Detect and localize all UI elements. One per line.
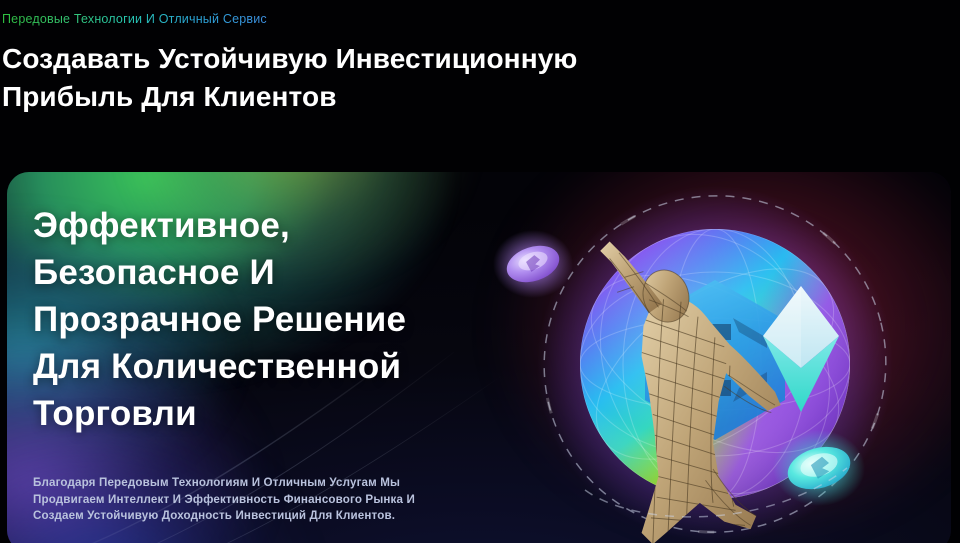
hero-page: Передовые Технологии И Отличный Сервис С… [0, 0, 960, 543]
hero-header: Передовые Технологии И Отличный Сервис С… [0, 0, 960, 116]
hero-card: Эффективное, Безопасное И Прозрачное Реш… [7, 172, 951, 543]
card-body-text: Благодаря Передовым Технологиям И Отличн… [33, 475, 463, 525]
hero-eyebrow: Передовые Технологии И Отличный Сервис [2, 11, 267, 27]
page-title: Создавать Устойчивую Инвестиционную Приб… [2, 40, 602, 116]
card-heading: Эффективное, Безопасное И Прозрачное Реш… [33, 202, 453, 437]
card-text-block: Эффективное, Безопасное И Прозрачное Реш… [33, 202, 453, 437]
purple-coin-token [493, 230, 573, 298]
cyan-coin-token [773, 430, 865, 506]
hero-illustration [467, 172, 937, 543]
